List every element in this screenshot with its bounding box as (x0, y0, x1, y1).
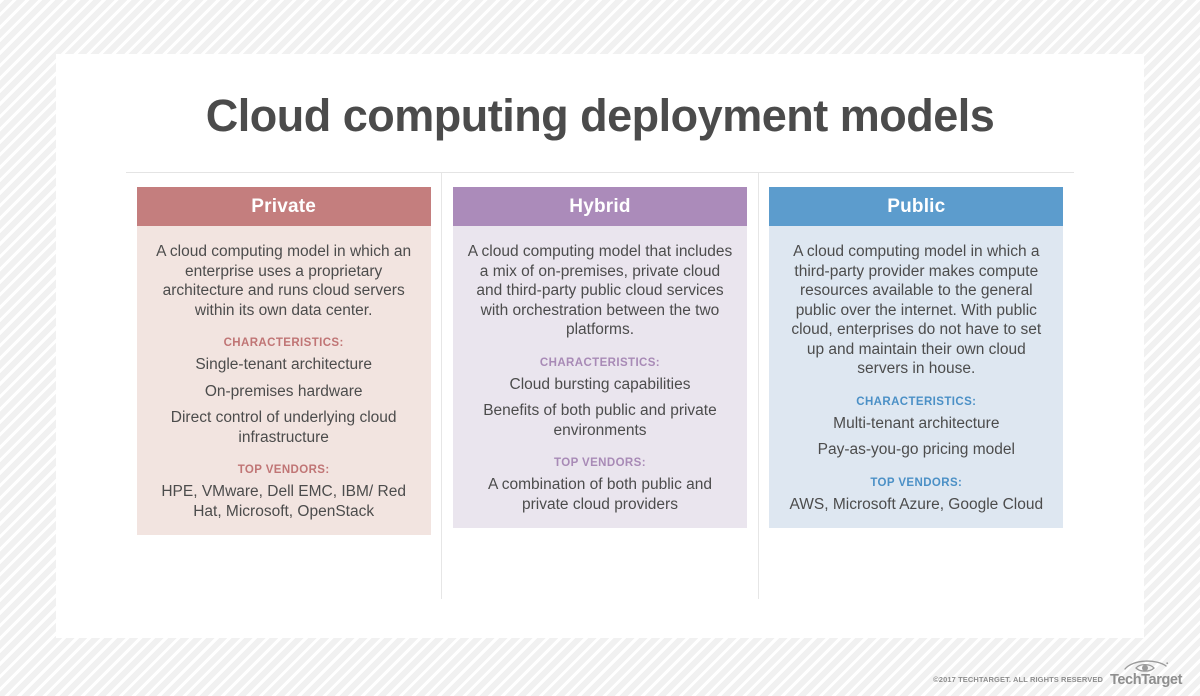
column-private-characteristic: Direct control of underlying cloud infra… (145, 408, 423, 447)
column-hybrid-summary: A cloud computing model that includes a … (461, 242, 739, 340)
column-hybrid-inner: Hybrid A cloud computing model that incl… (453, 187, 747, 528)
column-private-inner: Private A cloud computing model in which… (137, 187, 431, 535)
column-hybrid-characteristics-label: CHARACTERISTICS: (461, 357, 739, 369)
column-private-header: Private (137, 187, 431, 226)
column-public-inner: Public A cloud computing model in which … (769, 187, 1063, 528)
column-public-vendors-label: TOP VENDORS: (777, 477, 1055, 489)
column-hybrid-header: Hybrid (453, 187, 747, 226)
footer: ©2017 TECHTARGET. ALL RIGHTS RESERVED Te… (933, 658, 1182, 688)
column-private-vendors-label: TOP VENDORS: (145, 464, 423, 476)
column-public-vendors: AWS, Microsoft Azure, Google Cloud (777, 495, 1055, 515)
column-public: Public A cloud computing model in which … (758, 173, 1074, 599)
model-columns: Private A cloud computing model in which… (126, 173, 1074, 599)
page-title: Cloud computing deployment models (56, 90, 1144, 142)
infographic-card: Cloud computing deployment models Privat… (56, 54, 1144, 638)
column-public-header: Public (769, 187, 1063, 226)
column-public-characteristics-label: CHARACTERISTICS: (777, 396, 1055, 408)
column-public-summary: A cloud computing model in which a third… (777, 242, 1055, 379)
techtarget-wordmark: TechTarget (1110, 673, 1182, 688)
column-private-body: A cloud computing model in which an ente… (137, 226, 431, 535)
column-public-body: A cloud computing model in which a third… (769, 226, 1063, 528)
column-hybrid: Hybrid A cloud computing model that incl… (441, 173, 757, 599)
column-private-vendors: HPE, VMware, Dell EMC, IBM/ Red Hat, Mic… (145, 482, 423, 521)
column-private-summary: A cloud computing model in which an ente… (145, 242, 423, 320)
column-hybrid-characteristic: Benefits of both public and private envi… (461, 401, 739, 440)
column-hybrid-vendors-label: TOP VENDORS: (461, 457, 739, 469)
column-private: Private A cloud computing model in which… (126, 173, 441, 599)
column-private-characteristic: Single-tenant architecture (145, 355, 423, 375)
column-hybrid-characteristic: Cloud bursting capabilities (461, 375, 739, 395)
techtarget-logo: TechTarget (1110, 658, 1182, 688)
column-private-characteristics-label: CHARACTERISTICS: (145, 337, 423, 349)
column-hybrid-vendors: A combination of both public and private… (461, 475, 739, 514)
column-hybrid-body: A cloud computing model that includes a … (453, 226, 747, 528)
column-public-characteristic: Pay-as-you-go pricing model (777, 440, 1055, 460)
column-private-characteristic: On-premises hardware (145, 382, 423, 402)
copyright-text: ©2017 TECHTARGET. ALL RIGHTS RESERVED (933, 675, 1103, 688)
column-public-characteristic: Multi-tenant architecture (777, 414, 1055, 434)
